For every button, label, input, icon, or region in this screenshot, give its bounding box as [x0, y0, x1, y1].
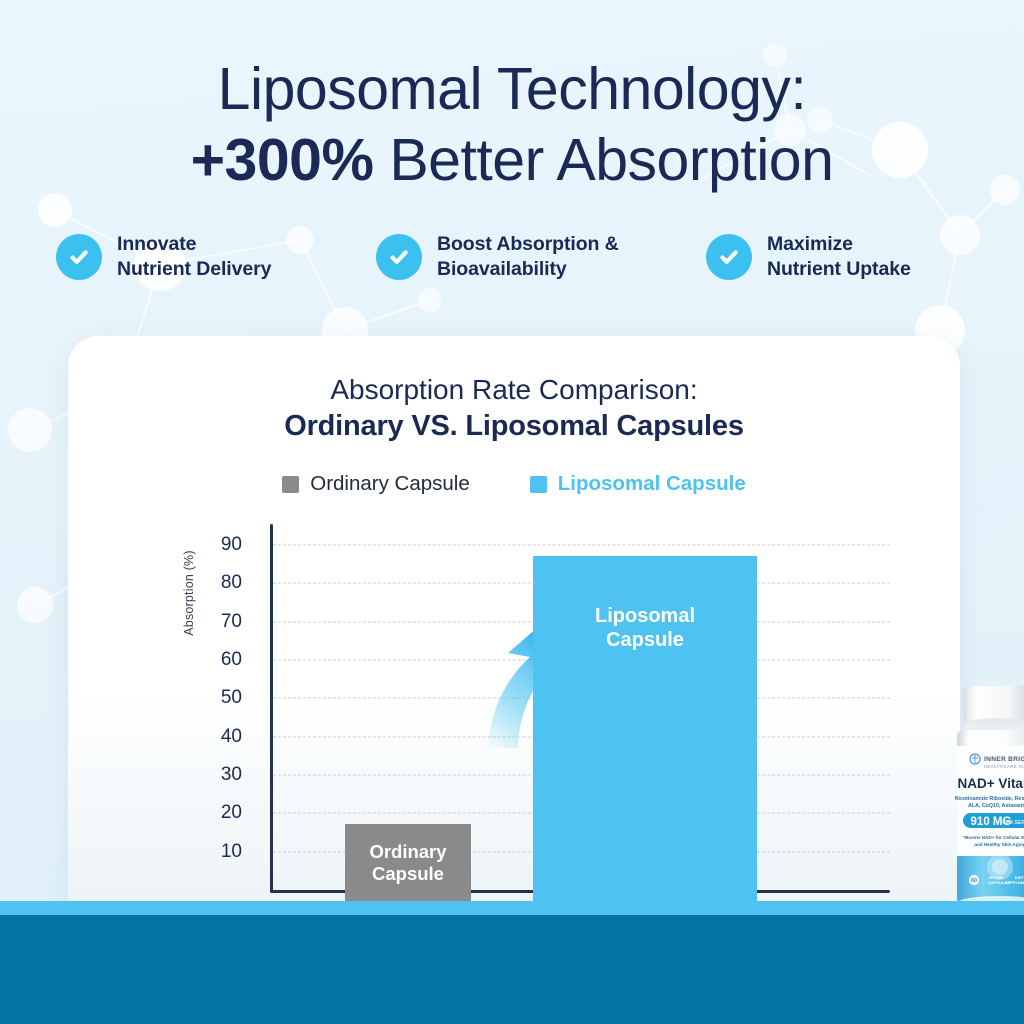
svg-text:HEALTHCARE SUPPLEMENT: HEALTHCARE SUPPLEMENT: [984, 764, 1024, 769]
legend-label-ordinary: Ordinary Capsule: [310, 472, 470, 496]
bottom-cyan-stripe: [0, 901, 1024, 915]
feature-label: Innovate Nutrient Delivery: [117, 232, 271, 282]
feature-item-boost-absorption: Boost Absorption & Bioavailability: [376, 232, 706, 282]
legend-item-liposomal: Liposomal Capsule: [530, 472, 746, 496]
legend-swatch-liposomal: [530, 476, 547, 493]
feature-list: Innovate Nutrient Delivery Boost Absorpt…: [56, 232, 976, 282]
infographic-root: Liposomal Technology: +300% Better Absor…: [0, 0, 1024, 1024]
svg-text:ALA, CoQ10, Astaxanthin: ALA, CoQ10, Astaxanthin: [968, 803, 1024, 809]
headline-line-2-rest: Better Absorption: [373, 127, 833, 193]
svg-text:NAD+ Vitality: NAD+ Vitality: [958, 776, 1024, 791]
feature-item-maximize-uptake: Maximize Nutrient Uptake: [706, 232, 966, 282]
bar-ordinary-capsule: Ordinary Capsule: [345, 824, 471, 901]
legend-swatch-ordinary: [282, 476, 299, 493]
headline-line-2: +300% Better Absorption: [0, 129, 1024, 193]
svg-text:PER SERVING: PER SERVING: [1002, 820, 1024, 826]
y-axis-tick-labels: 908070605040302010: [200, 526, 250, 871]
chart-card: Absorption Rate Comparison: Ordinary VS.…: [68, 336, 960, 952]
y-axis-line: [270, 524, 273, 892]
chart-title-line-2: Ordinary VS. Liposomal Capsules: [68, 408, 960, 446]
feature-label: Maximize Nutrient Uptake: [767, 232, 911, 282]
gridline-90: [273, 545, 890, 546]
y-tick-20: 20: [221, 802, 242, 824]
headline-highlight: +300%: [191, 127, 374, 193]
y-tick-90: 90: [221, 534, 242, 556]
y-tick-10: 10: [221, 841, 242, 863]
y-tick-70: 70: [221, 611, 242, 633]
bar-label-ordinary: Ordinary Capsule: [369, 841, 446, 885]
check-circle-icon: [376, 234, 422, 280]
svg-text:and Healthy Skin Aging: and Healthy Skin Aging: [974, 842, 1024, 847]
y-tick-50: 50: [221, 687, 242, 709]
feature-item-innovate: Innovate Nutrient Delivery: [56, 232, 376, 282]
headline-line-1: Liposomal Technology:: [0, 58, 1024, 122]
check-circle-icon: [706, 234, 752, 280]
y-tick-80: 80: [221, 572, 242, 594]
y-axis-label: Absorption (%): [182, 513, 196, 673]
y-tick-30: 30: [221, 764, 242, 786]
y-tick-40: 40: [221, 726, 242, 748]
svg-text:*Boosts NAD+ for Cellular Ener: *Boosts NAD+ for Cellular Energy: [963, 835, 1024, 840]
chart-title-line-1: Absorption Rate Comparison:: [68, 372, 960, 408]
svg-text:SUPPLEMENT: SUPPLEMENT: [1005, 880, 1024, 885]
product-bottle-image: INNER BRIGHTNESS HEALTHCARE SUPPLEMENT N…: [933, 684, 1024, 914]
page-title: Liposomal Technology: +300% Better Absor…: [0, 58, 1024, 192]
bar-liposomal-capsule: Liposomal Capsule: [533, 556, 757, 901]
bar-label-liposomal: Liposomal Capsule: [595, 604, 695, 652]
svg-text:INNER BRIGHTNESS: INNER BRIGHTNESS: [984, 756, 1024, 763]
svg-text:Nicotinamide Riboside, Resvera: Nicotinamide Riboside, Resveratrol,: [955, 796, 1024, 802]
bar-chart-plot: Absorption (%) 908070605040302010 Ordi: [200, 526, 890, 901]
chart-title: Absorption Rate Comparison: Ordinary VS.…: [68, 372, 960, 446]
legend-item-ordinary: Ordinary Capsule: [282, 472, 470, 496]
feature-label: Boost Absorption & Bioavailability: [437, 232, 619, 282]
bottom-blue-band: [0, 915, 1024, 1024]
svg-text:60: 60: [971, 878, 977, 884]
chart-legend: Ordinary Capsule Liposomal Capsule: [68, 472, 960, 496]
y-tick-60: 60: [221, 649, 242, 671]
legend-label-liposomal: Liposomal Capsule: [558, 472, 746, 496]
check-circle-icon: [56, 234, 102, 280]
